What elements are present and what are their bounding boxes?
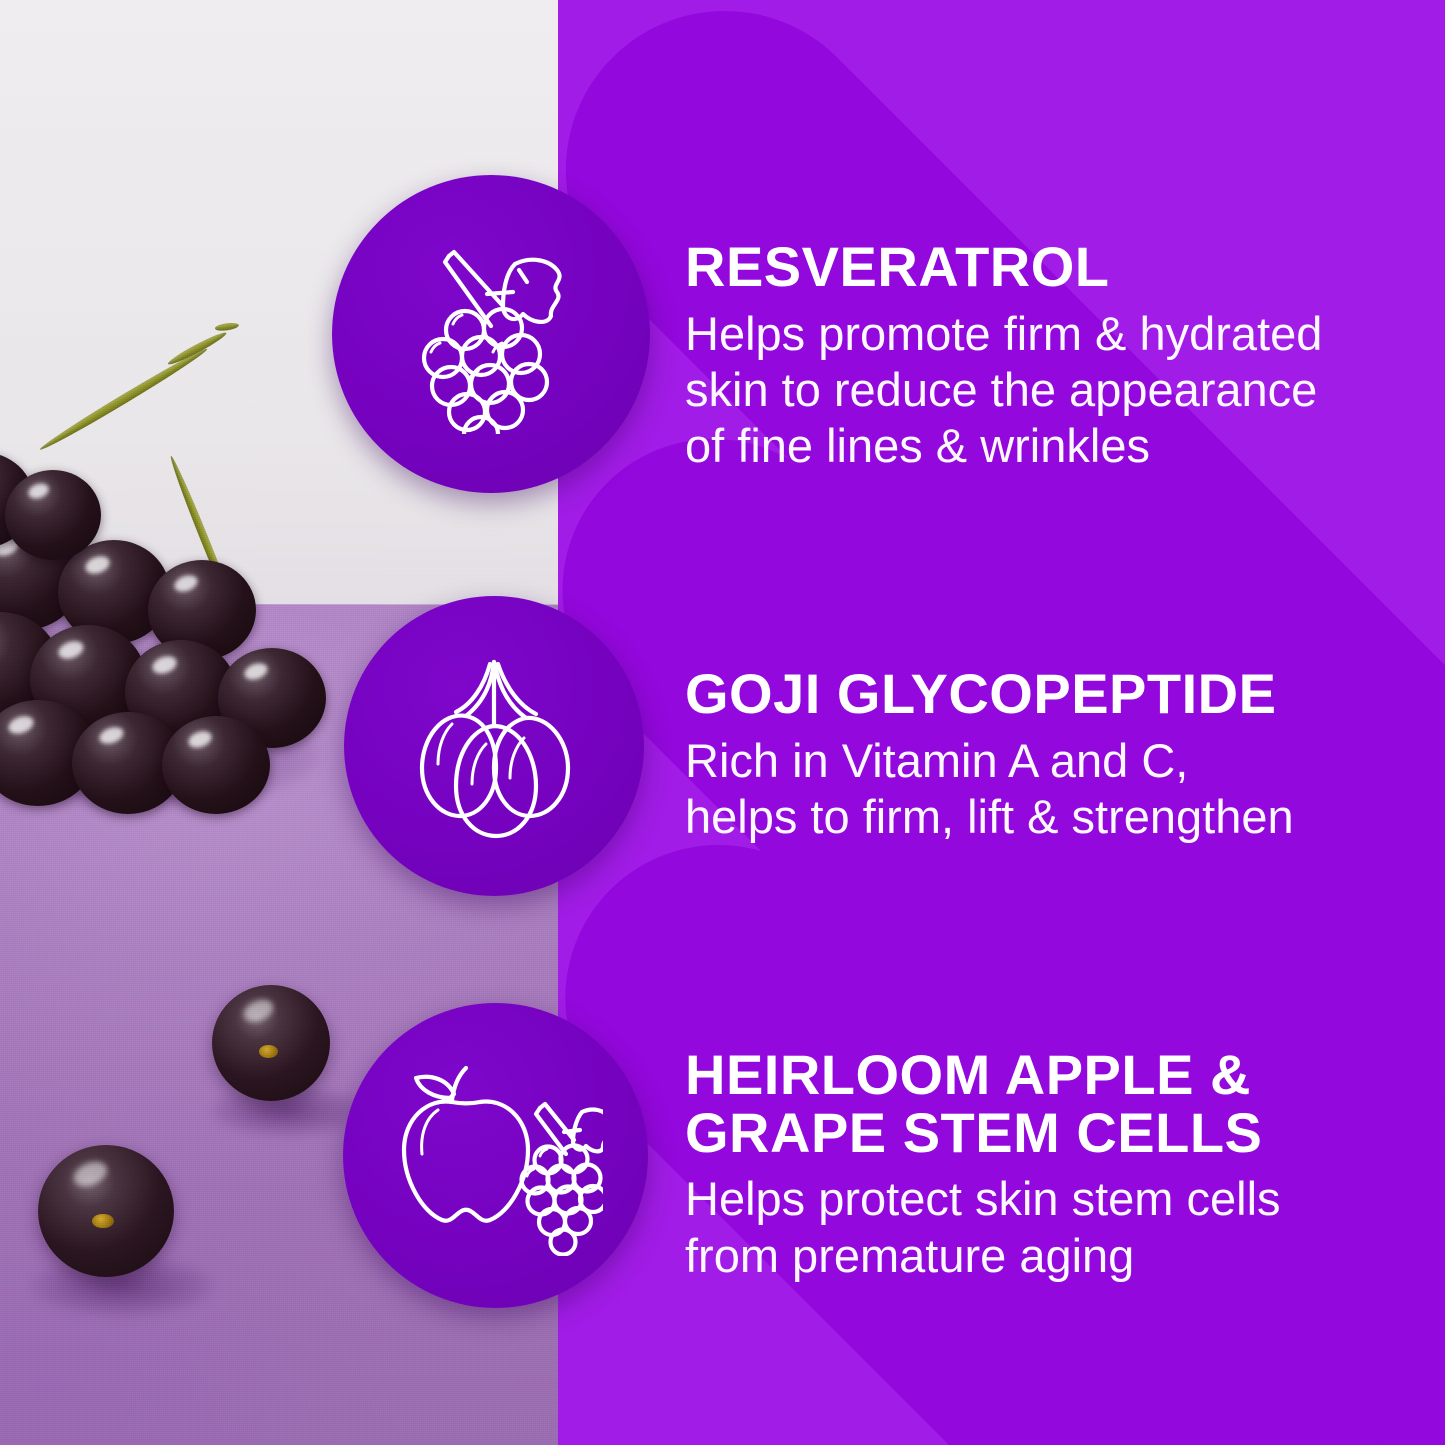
ingredient-description: Helps promote firm & hydrated skin to re…	[685, 306, 1385, 475]
grape-berry	[162, 716, 270, 814]
grape-berry	[5, 470, 101, 560]
description-line: of fine lines & wrinkles	[685, 418, 1385, 474]
title-line: HEIRLOOM APPLE &	[685, 1046, 1385, 1104]
icon-circle-goji[interactable]	[344, 596, 644, 896]
description-line: helps to firm, lift & strengthen	[685, 789, 1385, 845]
loose-grape-lower	[38, 1145, 174, 1277]
grapes-icon	[391, 234, 591, 434]
icon-circle-resveratrol[interactable]	[332, 175, 650, 493]
description-line: Rich in Vitamin A and C,	[685, 733, 1385, 789]
description-line: Helps promote firm & hydrated	[685, 306, 1385, 362]
ingredient-text-stem-cells: HEIRLOOM APPLE & GRAPE STEM CELLS Helps …	[685, 1046, 1385, 1284]
goji-berries-icon	[394, 646, 594, 846]
ingredient-text-goji: GOJI GLYCOPEPTIDE Rich in Vitamin A and …	[685, 665, 1385, 845]
apple-and-grapes-icon	[388, 1056, 603, 1256]
description-line: from premature aging	[685, 1228, 1385, 1284]
description-line: Helps protect skin stem cells	[685, 1171, 1385, 1227]
ingredient-description: Helps protect skin stem cells from prema…	[685, 1171, 1385, 1284]
ingredient-title: RESVERATROL	[685, 238, 1385, 296]
loose-grape-upper	[212, 985, 330, 1101]
ingredient-benefits-infographic: RESVERATROL Helps promote firm & hydrate…	[0, 0, 1445, 1445]
ingredient-title: HEIRLOOM APPLE & GRAPE STEM CELLS	[685, 1046, 1385, 1161]
description-line: skin to reduce the appearance	[685, 362, 1385, 418]
title-line: GRAPE STEM CELLS	[685, 1104, 1385, 1162]
icon-circle-stem-cells[interactable]	[343, 1003, 648, 1308]
ingredient-description: Rich in Vitamin A and C, helps to firm, …	[685, 733, 1385, 846]
ingredient-title: GOJI GLYCOPEPTIDE	[685, 665, 1385, 723]
ingredient-text-resveratrol: RESVERATROL Helps promote firm & hydrate…	[685, 238, 1385, 475]
